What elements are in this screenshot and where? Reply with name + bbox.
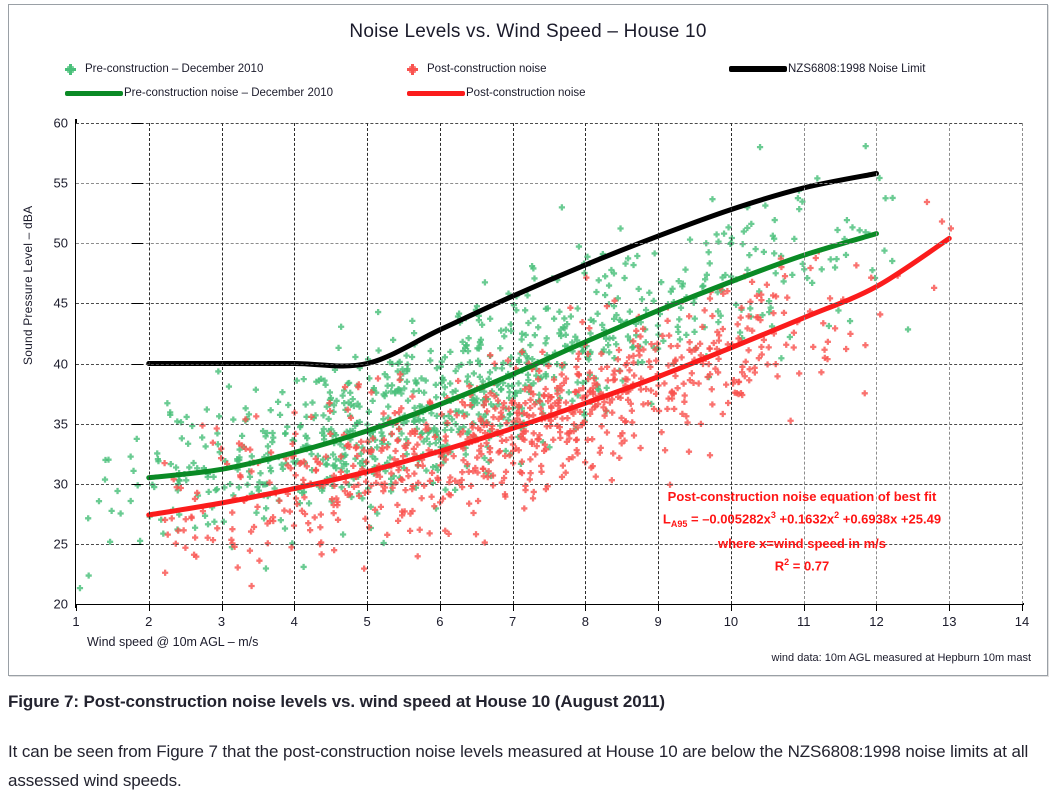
- x-axis-tick: [585, 604, 586, 611]
- y-axis-tick-label: 30: [54, 476, 68, 491]
- green-line-swatch-icon: [65, 91, 123, 96]
- x-axis-tick-label: 12: [869, 614, 883, 629]
- x-axis-tick: [367, 604, 368, 611]
- chart-figure-box: Noise Levels vs. Wind Speed – House 10 P…: [8, 4, 1048, 676]
- x-axis-tick: [1022, 604, 1023, 611]
- x-axis-tick-label: 9: [655, 614, 662, 629]
- legend-item-post-construction-line[interactable]: Post-construction noise: [407, 87, 586, 99]
- legend-label: Post-construction noise: [466, 87, 586, 99]
- y-axis-tick: [132, 123, 143, 124]
- x-axis-tick: [149, 604, 150, 611]
- chart-legend: Pre-construction – December 2010 Post-co…: [9, 57, 1047, 105]
- legend-item-pre-construction-line[interactable]: Pre-construction noise – December 2010: [65, 87, 333, 99]
- x-axis-tick: [222, 604, 223, 611]
- red-line-swatch-icon: [407, 91, 465, 96]
- legend-item-post-construction-points[interactable]: Post-construction noise: [407, 63, 547, 75]
- x-axis-title: Wind speed @ 10m AGL – m/s: [87, 635, 258, 649]
- green-plus-marker-icon: [65, 64, 76, 75]
- x-axis-tick-label: 5: [363, 614, 370, 629]
- red-plus-marker-icon: [407, 64, 418, 75]
- x-axis-tick-label: 7: [509, 614, 516, 629]
- black-line-swatch-icon: [729, 66, 787, 72]
- y-axis-tick-label: 50: [54, 236, 68, 251]
- y-axis-tick: [132, 364, 143, 365]
- x-axis-tick: [513, 604, 514, 611]
- x-axis-tick: [76, 604, 77, 611]
- y-axis-tick: [132, 243, 143, 244]
- x-axis-tick-label: 10: [724, 614, 738, 629]
- x-axis-tick: [804, 604, 805, 611]
- x-axis-tick-label: 14: [1015, 614, 1029, 629]
- y-axis-tick-label: 40: [54, 356, 68, 371]
- x-axis-tick: [949, 604, 950, 611]
- y-axis-tick: [132, 484, 143, 485]
- y-axis-tick-label: 60: [54, 116, 68, 131]
- x-axis-tick: [876, 604, 877, 611]
- y-axis-tick-label: 25: [54, 536, 68, 551]
- legend-item-nzs-noise-limit[interactable]: NZS6808:1998 Noise Limit: [729, 63, 925, 75]
- y-axis-tick: [132, 604, 143, 605]
- legend-label: NZS6808:1998 Noise Limit: [788, 63, 925, 75]
- x-axis-tick-label: 6: [436, 614, 443, 629]
- equation-line-4: R2 = 0.77: [605, 553, 999, 575]
- x-axis-tick: [440, 604, 441, 611]
- y-axis-tick-label: 55: [54, 176, 68, 191]
- trend-line-0a8a25: [149, 234, 877, 478]
- x-axis-tick: [731, 604, 732, 611]
- equation-line-3: where x=wind speed in m/s: [605, 534, 999, 553]
- legend-label: Post-construction noise: [427, 63, 547, 75]
- x-axis-tick-label: 2: [145, 614, 152, 629]
- chart-title: Noise Levels vs. Wind Speed – House 10: [9, 21, 1047, 43]
- y-axis-tick: [132, 544, 143, 545]
- x-axis-tick-label: 4: [291, 614, 298, 629]
- equation-annotation: Post-construction noise equation of best…: [605, 487, 999, 575]
- x-axis-tick-label: 13: [942, 614, 956, 629]
- wind-data-source-note: wind data: 10m AGL measured at Hepburn 1…: [772, 652, 1031, 664]
- legend-label: Pre-construction – December 2010: [85, 63, 263, 75]
- y-axis-tick-label: 20: [54, 597, 68, 612]
- y-axis-tick: [132, 424, 143, 425]
- x-axis-tick: [294, 604, 295, 611]
- equation-line-2: LA95 = –0.005282x3 +0.1632x2 +0.6938x +2…: [605, 506, 999, 534]
- gridline-vertical: [1022, 123, 1023, 604]
- legend-item-pre-construction-points[interactable]: Pre-construction – December 2010: [65, 63, 263, 75]
- figure-page: Noise Levels vs. Wind Speed – House 10 P…: [0, 0, 1056, 801]
- legend-label: Pre-construction noise – December 2010: [124, 87, 333, 99]
- x-axis-tick-label: 1: [72, 614, 79, 629]
- x-axis-tick-label: 11: [797, 614, 811, 629]
- x-axis-tick: [658, 604, 659, 611]
- figure-caption: Figure 7: Post-construction noise levels…: [8, 692, 665, 712]
- x-axis-tick-label: 8: [582, 614, 589, 629]
- y-axis-tick: [132, 303, 143, 304]
- y-axis-title: Sound Pressure Level – dBA: [21, 206, 35, 365]
- y-axis-tick-label: 35: [54, 416, 68, 431]
- equation-line-1: Post-construction noise equation of best…: [605, 487, 999, 506]
- y-axis-tick-label: 45: [54, 296, 68, 311]
- y-axis-tick: [132, 183, 143, 184]
- x-axis-tick-label: 3: [218, 614, 225, 629]
- body-paragraph: It can be seen from Figure 7 that the po…: [8, 737, 1038, 795]
